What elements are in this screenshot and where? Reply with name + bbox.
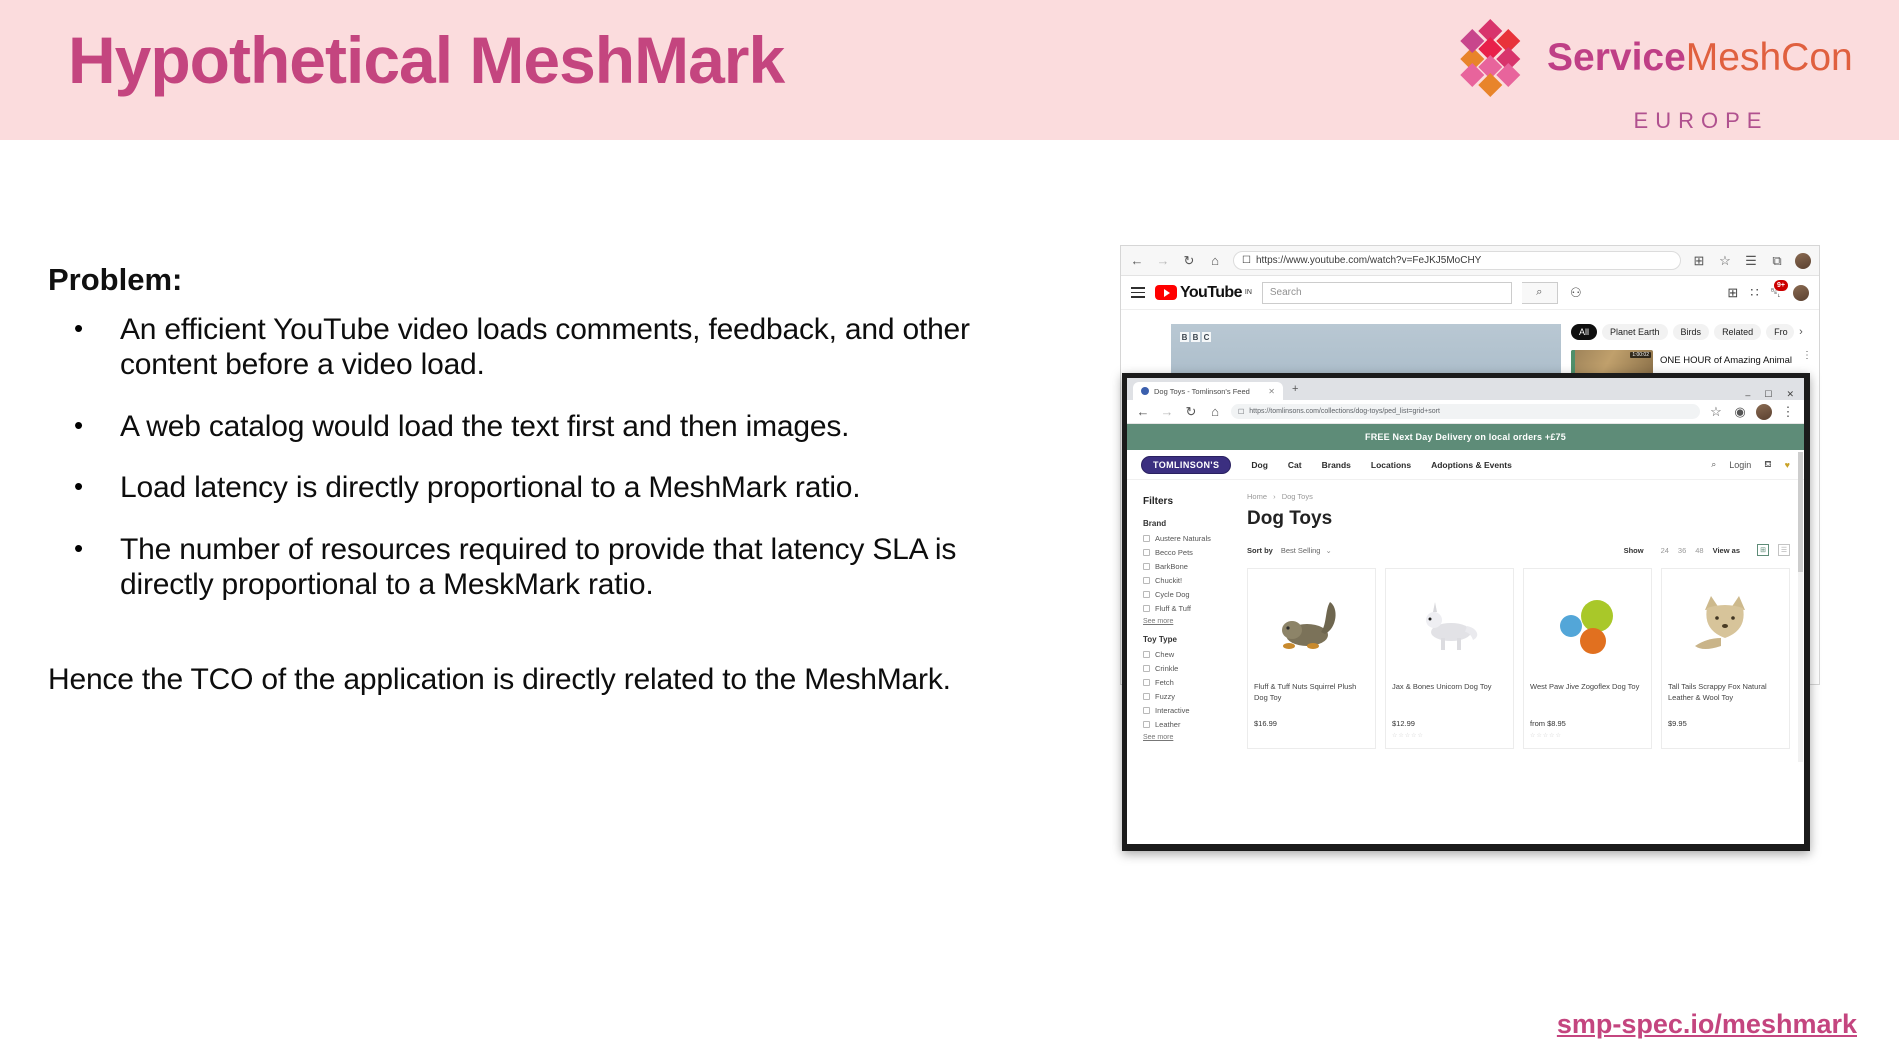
bbc-letter-b1: B <box>1180 332 1189 342</box>
checkbox-icon[interactable] <box>1143 549 1150 556</box>
list-view-icon[interactable]: ☰ <box>1778 544 1790 556</box>
new-tab-icon[interactable]: + <box>1286 383 1304 395</box>
grid-view-icon[interactable]: ⊞ <box>1757 544 1769 556</box>
logo-subtitle: EUROPE <box>1541 108 1861 134</box>
tomlinsons-browser-window: Dog Toys - Tomlinson's Feed ✕ + – ☐ ✕ ← … <box>1122 373 1810 851</box>
logo-wordmark: ServiceMeshCon <box>1547 38 1853 77</box>
microphone-icon[interactable]: ⚇ <box>1568 285 1584 301</box>
bullet-text: A web catalog would load the text first … <box>120 409 849 444</box>
see-more-toytype-link[interactable]: See more <box>1143 734 1229 741</box>
filter-label: Chuckit! <box>1155 576 1182 585</box>
bullet-marker-icon: • <box>64 470 120 505</box>
checkbox-icon[interactable] <box>1143 577 1150 584</box>
tomlinsons-browser-chrome: ← → ↻ ⌂ ☐ https://tomlinsons.com/collect… <box>1127 400 1804 424</box>
closing-paragraph: Hence the TCO of the application is dire… <box>48 662 978 697</box>
bullet-marker-icon: • <box>64 409 120 444</box>
slide-root: Hypothetical MeshMark <box>0 0 1899 1060</box>
bbc-watermark-icon: B B C <box>1180 332 1211 342</box>
list-item: • Load latency is directly proportional … <box>64 470 1024 505</box>
checkbox-icon[interactable] <box>1143 693 1150 700</box>
show-label: Show <box>1624 546 1644 555</box>
tomlinsons-url-bar[interactable]: ☐ https://tomlinsons.com/collections/dog… <box>1231 404 1700 419</box>
sort-and-view-bar: Sort by Best Selling ⌄ Show 24 36 48 Vie… <box>1247 544 1790 556</box>
product-card[interactable]: Tall Tails Scrappy Fox Natural Leather &… <box>1661 568 1790 749</box>
tab-title: Dog Toys - Tomlinson's Feed <box>1154 387 1250 396</box>
product-card[interactable]: Jax & Bones Unicorn Dog Toy $12.99 ☆☆☆☆☆ <box>1385 568 1514 749</box>
browser-tab-strip: Dog Toys - Tomlinson's Feed ✕ + – ☐ ✕ <box>1127 378 1804 400</box>
meshmark-spec-link[interactable]: smp-spec.io/meshmark <box>1557 1009 1857 1040</box>
search-input[interactable]: Search <box>1262 282 1512 304</box>
chip-from[interactable]: Fro <box>1766 324 1794 340</box>
avatar[interactable] <box>1793 285 1809 301</box>
checkbox-icon[interactable] <box>1143 721 1150 728</box>
youtube-play-icon <box>1155 285 1177 300</box>
sort-by-label: Sort by <box>1247 546 1273 555</box>
bullet-marker-icon: • <box>64 312 120 383</box>
youtube-logo[interactable]: YouTube IN <box>1155 284 1252 302</box>
hamburger-menu-icon[interactable] <box>1131 287 1145 298</box>
nav-item-dog[interactable]: Dog <box>1251 460 1268 470</box>
favorite-icon[interactable]: ☆ <box>1717 253 1733 269</box>
wishlist-heart-icon[interactable]: ♥ <box>1785 460 1790 470</box>
filter-option[interactable]: Becco Pets <box>1143 548 1229 557</box>
nav-item-cat[interactable]: Cat <box>1288 460 1302 470</box>
chevron-down-icon[interactable]: ⌄ <box>1325 546 1331 555</box>
catalog-page-heading: Dog Toys <box>1247 508 1790 530</box>
show-option-24[interactable]: 24 <box>1661 546 1669 555</box>
see-more-brands-link[interactable]: See more <box>1143 618 1229 625</box>
minimize-icon[interactable]: – <box>1745 390 1750 400</box>
cart-icon[interactable]: ⛾ <box>1764 459 1771 471</box>
home-icon[interactable]: ⌂ <box>1207 404 1223 419</box>
filters-heading: Filters <box>1143 496 1229 507</box>
close-tab-icon[interactable]: ✕ <box>1268 387 1275 396</box>
page-title: Hypothetical MeshMark <box>68 22 784 98</box>
notification-badge: 9+ <box>1774 280 1788 291</box>
filter-label: Leather <box>1155 720 1180 729</box>
product-image-zogoflex-balls <box>1530 577 1645 673</box>
extension-icon[interactable]: ◉ <box>1732 404 1748 420</box>
filter-group-toytype-heading: Toy Type <box>1143 635 1229 644</box>
servicemeshcon-logo: ServiceMeshCon EUROPE <box>1451 14 1861 122</box>
filter-option[interactable]: Fluff & Tuff <box>1143 604 1229 613</box>
avatar[interactable] <box>1795 253 1811 269</box>
close-window-icon[interactable]: ✕ <box>1786 389 1794 400</box>
filter-option[interactable]: BarkBone <box>1143 562 1229 571</box>
filter-option[interactable]: Fuzzy <box>1143 692 1229 701</box>
chevron-right-icon[interactable]: › <box>1799 326 1803 338</box>
bullet-list: • An efficient YouTube video loads comme… <box>64 312 1024 628</box>
back-icon[interactable]: ← <box>1135 404 1151 419</box>
checkbox-icon[interactable] <box>1143 679 1150 686</box>
chip-birds[interactable]: Birds <box>1673 324 1710 340</box>
checkbox-icon[interactable] <box>1143 591 1150 598</box>
product-image-scrappy-fox <box>1668 577 1783 673</box>
show-option-36[interactable]: 36 <box>1678 546 1686 555</box>
diamond-mesh-icon <box>1451 14 1537 100</box>
reload-icon[interactable]: ↻ <box>1183 404 1199 420</box>
logo-meshcon-text: MeshCon <box>1686 36 1853 79</box>
back-icon[interactable]: ← <box>1129 253 1145 268</box>
product-title: Jax & Bones Unicorn Dog Toy <box>1392 682 1507 714</box>
avatar[interactable] <box>1756 404 1772 420</box>
collections-icon[interactable]: ⊞ <box>1691 253 1707 269</box>
search-icon[interactable]: ⌕ <box>1711 459 1716 470</box>
bbc-letter-b2: B <box>1191 332 1200 342</box>
reading-list-icon[interactable]: ☰ <box>1743 253 1759 269</box>
checkbox-icon[interactable] <box>1143 665 1150 672</box>
create-video-icon[interactable]: ⊞ <box>1727 285 1738 301</box>
logo-service-text: Service <box>1547 36 1686 79</box>
sort-by-value[interactable]: Best Selling <box>1281 546 1321 555</box>
filter-label: Fetch <box>1155 678 1174 687</box>
catalog-content: Home › Dog Toys Dog Toys Sort by Best Se… <box>1237 480 1804 844</box>
maximize-icon[interactable]: ☐ <box>1764 389 1772 400</box>
tomlinsons-url-text: https://tomlinsons.com/collections/dog-t… <box>1249 408 1440 415</box>
nav-item-locations[interactable]: Locations <box>1371 460 1411 470</box>
vertical-scrollbar[interactable] <box>1798 452 1803 762</box>
product-price: $12.99 <box>1392 719 1507 728</box>
filter-label: Austere Naturals <box>1155 534 1211 543</box>
breadcrumb: Home › Dog Toys <box>1247 492 1790 501</box>
apps-grid-icon[interactable]: ∷ <box>1750 285 1758 301</box>
video-duration: 1:00:02 <box>1630 352 1651 358</box>
chip-related[interactable]: Related <box>1714 324 1761 340</box>
browser-menu-icon[interactable]: ⋮ <box>1780 404 1796 420</box>
filter-option[interactable]: Chuckit! <box>1143 576 1229 585</box>
list-item: • A web catalog would load the text firs… <box>64 409 1024 444</box>
youtube-top-bar: YouTube IN Search ⌕ ⚇ ⊞ ∷ ␇ 9+ <box>1121 276 1819 310</box>
reload-icon[interactable]: ↻ <box>1181 253 1197 269</box>
product-rating-stars: ☆☆☆☆☆ <box>1392 732 1507 739</box>
site-navigation: TOMLINSON'S Dog Cat Brands Locations Ado… <box>1127 450 1804 480</box>
product-card[interactable]: Fluff & Tuff Nuts Squirrel Plush Dog Toy… <box>1247 568 1376 749</box>
checkbox-icon[interactable] <box>1143 707 1150 714</box>
breadcrumb-separator-icon: › <box>1273 492 1276 501</box>
filter-option[interactable]: Interactive <box>1143 706 1229 715</box>
checkbox-icon[interactable] <box>1143 535 1150 542</box>
list-item: • The number of resources required to pr… <box>64 532 1024 603</box>
bullet-text: An efficient YouTube video loads comment… <box>120 312 1024 383</box>
breadcrumb-home[interactable]: Home <box>1247 492 1267 501</box>
chip-all[interactable]: All <box>1571 324 1597 340</box>
product-image-squirrel-plush <box>1254 577 1369 673</box>
filter-option[interactable]: Chew <box>1143 650 1229 659</box>
checkbox-icon[interactable] <box>1143 563 1150 570</box>
list-item: • An efficient YouTube video loads comme… <box>64 312 1024 383</box>
show-option-48[interactable]: 48 <box>1695 546 1703 555</box>
tabs-icon[interactable]: ⧉ <box>1769 253 1785 269</box>
lock-icon: ☐ <box>1242 255 1251 266</box>
youtube-country-sup: IN <box>1245 289 1252 296</box>
product-card[interactable]: West Paw Jive Zogoflex Dog Toy from $8.9… <box>1523 568 1652 749</box>
filter-label: Chew <box>1155 650 1174 659</box>
filters-sidebar: Filters Brand Austere Naturals Becco Pet… <box>1127 480 1237 844</box>
bullet-text: The number of resources required to prov… <box>120 532 1024 603</box>
login-link[interactable]: Login <box>1729 460 1751 470</box>
filter-label: Interactive <box>1155 706 1190 715</box>
filter-option[interactable]: Austere Naturals <box>1143 534 1229 543</box>
problem-heading: Problem: <box>48 262 182 298</box>
product-price: $9.95 <box>1668 719 1783 728</box>
notifications-bell-icon[interactable]: ␇ 9+ <box>1771 285 1781 301</box>
screenshot-composite: ← → ↻ ⌂ ☐ https://www.youtube.com/watch?… <box>1120 245 1830 875</box>
filter-label: Becco Pets <box>1155 548 1193 557</box>
forward-icon[interactable]: → <box>1155 253 1171 268</box>
filter-label: Cycle Dog <box>1155 590 1190 599</box>
checkbox-icon[interactable] <box>1143 651 1150 658</box>
youtube-browser-chrome: ← → ↻ ⌂ ☐ https://www.youtube.com/watch?… <box>1121 246 1819 276</box>
filter-group-brand-heading: Brand <box>1143 519 1229 528</box>
browser-tab[interactable]: Dog Toys - Tomlinson's Feed ✕ <box>1133 382 1283 400</box>
filter-label: Fluff & Tuff <box>1155 604 1191 613</box>
nav-item-brands[interactable]: Brands <box>1322 460 1351 470</box>
product-title: Fluff & Tuff Nuts Squirrel Plush Dog Toy <box>1254 682 1369 714</box>
filter-chip-row: All Planet Earth Birds Related Fro › <box>1571 324 1811 340</box>
filter-label: Fuzzy <box>1155 692 1175 701</box>
lock-icon: ☐ <box>1238 408 1244 416</box>
filter-label: Crinkle <box>1155 664 1178 673</box>
favicon-icon <box>1141 387 1149 395</box>
checkbox-icon[interactable] <box>1143 605 1150 612</box>
product-image-unicorn <box>1392 577 1507 673</box>
promo-banner: FREE Next Day Delivery on local orders +… <box>1127 424 1804 450</box>
product-price: from $8.95 <box>1530 719 1645 728</box>
bullet-marker-icon: • <box>64 532 120 603</box>
catalog-main: Filters Brand Austere Naturals Becco Pet… <box>1127 480 1804 844</box>
home-icon[interactable]: ⌂ <box>1207 253 1223 268</box>
bookmark-star-icon[interactable]: ☆ <box>1708 404 1724 420</box>
youtube-wordmark: YouTube <box>1180 284 1242 302</box>
product-title: West Paw Jive Zogoflex Dog Toy <box>1530 682 1645 714</box>
tomlinsons-logo[interactable]: TOMLINSON'S <box>1141 456 1231 474</box>
forward-icon[interactable]: → <box>1159 404 1175 419</box>
bbc-letter-c: C <box>1202 332 1211 342</box>
chip-planet-earth[interactable]: Planet Earth <box>1602 324 1668 340</box>
product-rating-stars: ☆☆☆☆☆ <box>1530 732 1645 739</box>
product-title: Tall Tails Scrappy Fox Natural Leather &… <box>1668 682 1783 714</box>
youtube-url-bar[interactable]: ☐ https://www.youtube.com/watch?v=FeJKJ5… <box>1233 251 1681 270</box>
filter-option[interactable]: Crinkle <box>1143 664 1229 673</box>
filter-option[interactable]: Cycle Dog <box>1143 590 1229 599</box>
search-icon[interactable]: ⌕ <box>1522 282 1558 304</box>
breadcrumb-current: Dog Toys <box>1282 492 1313 501</box>
product-price: $16.99 <box>1254 719 1369 728</box>
filter-option[interactable]: Fetch <box>1143 678 1229 687</box>
view-as-label: View as <box>1713 546 1740 555</box>
bullet-text: Load latency is directly proportional to… <box>120 470 860 505</box>
filter-label: BarkBone <box>1155 562 1188 571</box>
filter-option[interactable]: Leather <box>1143 720 1229 729</box>
nav-item-adoptions-events[interactable]: Adoptions & Events <box>1431 460 1512 470</box>
youtube-url-text: https://www.youtube.com/watch?v=FeJKJ5Mo… <box>1256 255 1481 266</box>
product-grid: Fluff & Tuff Nuts Squirrel Plush Dog Toy… <box>1247 568 1790 749</box>
